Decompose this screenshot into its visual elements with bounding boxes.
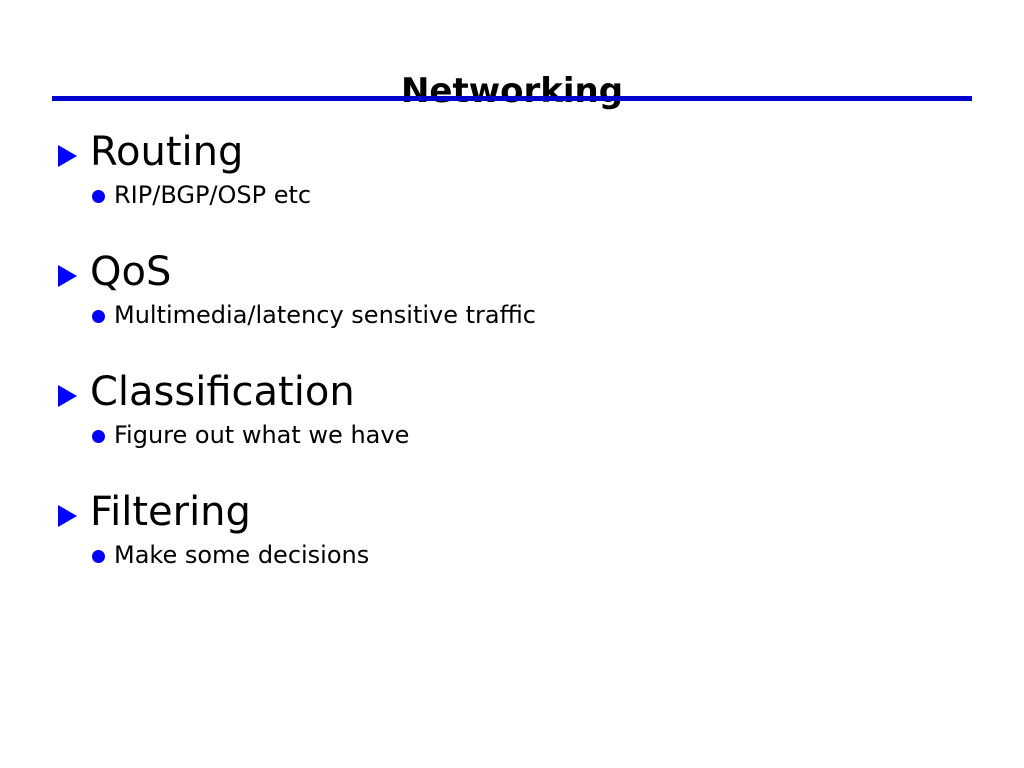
bullet-level2-row: Multimedia/latency sensitive traffic — [0, 300, 1024, 334]
disc-bullet-icon — [92, 190, 105, 203]
bullet-level2-label: Figure out what we have — [114, 420, 409, 450]
bullet-group: QoS Multimedia/latency sensitive traffic — [0, 248, 1024, 368]
page-title: Networking — [401, 71, 623, 111]
bullet-level1-row: QoS — [0, 248, 1024, 300]
triangle-right-icon — [58, 505, 77, 527]
bullet-level2-label: Multimedia/latency sensitive traffic — [114, 300, 536, 330]
disc-bullet-icon — [92, 550, 105, 563]
bullet-level1-label: Filtering — [90, 488, 251, 536]
bullet-level1-row: Classification — [0, 368, 1024, 420]
triangle-right-icon — [58, 265, 77, 287]
slide-title-block: Networking — [0, 48, 1024, 134]
bullet-level2-row: RIP/BGP/OSP etc — [0, 180, 1024, 214]
bullet-level1-row: Filtering — [0, 488, 1024, 540]
bullet-level1-label: Routing — [90, 128, 243, 176]
bullet-level2-label: Make some decisions — [114, 540, 369, 570]
bullet-level1-label: Classification — [90, 368, 355, 416]
bullet-level2-label: RIP/BGP/OSP etc — [114, 180, 311, 210]
bullet-level1-row: Routing — [0, 128, 1024, 180]
triangle-right-icon — [58, 385, 77, 407]
disc-bullet-icon — [92, 310, 105, 323]
bullet-level1-label: QoS — [90, 248, 171, 296]
title-underline-rule — [52, 96, 972, 101]
slide-body: Routing RIP/BGP/OSP etc QoS Multimedia/l… — [0, 128, 1024, 608]
disc-bullet-icon — [92, 430, 105, 443]
bullet-group: Filtering Make some decisions — [0, 488, 1024, 608]
bullet-level2-row: Make some decisions — [0, 540, 1024, 574]
triangle-right-icon — [58, 145, 77, 167]
bullet-group: Classification Figure out what we have — [0, 368, 1024, 488]
bullet-level2-row: Figure out what we have — [0, 420, 1024, 454]
bullet-group: Routing RIP/BGP/OSP etc — [0, 128, 1024, 248]
presentation-slide: Networking Routing RIP/BGP/OSP etc QoS M… — [0, 0, 1024, 768]
